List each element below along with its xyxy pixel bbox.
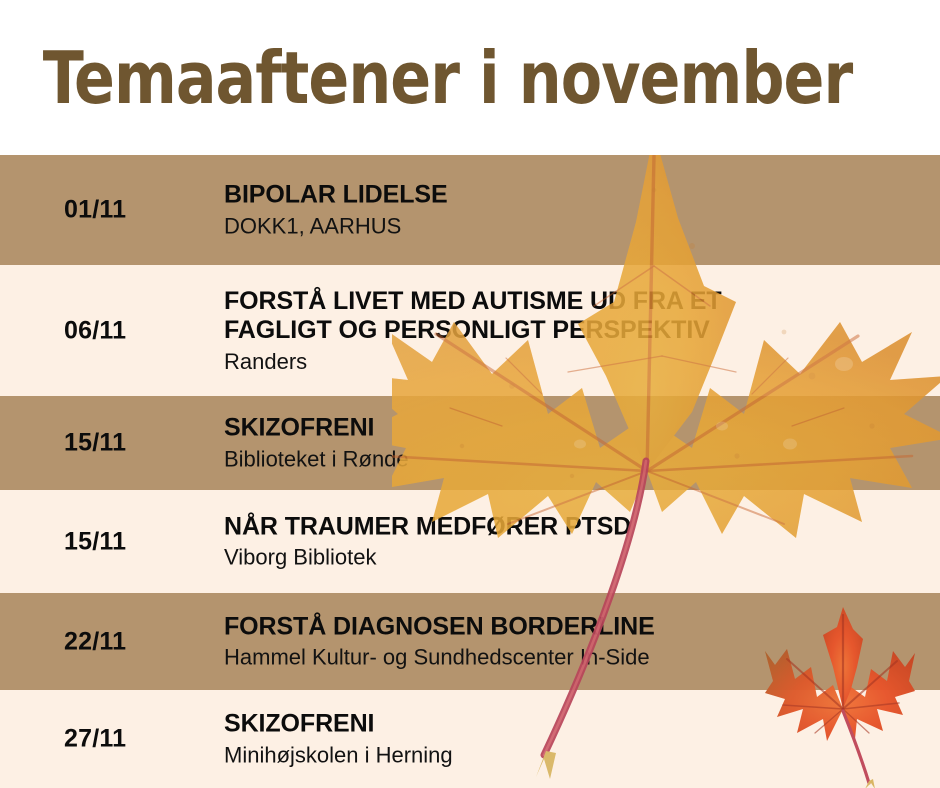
event-text-group: BIPOLAR LIDELSE DOKK1, AARHUS — [224, 181, 924, 240]
event-text-group: SKIZOFRENI Minihøjskolen i Herning — [224, 710, 924, 769]
event-row: 27/11 SKIZOFRENI Minihøjskolen i Herning — [0, 690, 940, 788]
event-venue: Viborg Bibliotek — [224, 544, 924, 572]
event-row: 15/11 NÅR TRAUMER MEDFØRER PTSD Viborg B… — [0, 490, 940, 593]
event-venue: DOKK1, AARHUS — [224, 212, 924, 240]
event-list: 01/11 BIPOLAR LIDELSE DOKK1, AARHUS 06/1… — [0, 155, 940, 788]
event-date: 01/11 — [64, 196, 126, 225]
event-date: 15/11 — [64, 429, 126, 458]
page-title: Temaaftener i november — [0, 42, 852, 114]
event-venue: Biblioteket i Rønde — [224, 445, 924, 473]
event-text-group: SKIZOFRENI Biblioteket i Rønde — [224, 414, 924, 473]
event-title: NÅR TRAUMER MEDFØRER PTSD — [224, 512, 924, 542]
event-date: 06/11 — [64, 316, 126, 345]
event-title: SKIZOFRENI — [224, 710, 924, 740]
event-date: 27/11 — [64, 725, 126, 754]
event-date: 15/11 — [64, 527, 126, 556]
title-bar: Temaaftener i november — [0, 0, 940, 155]
event-row: 22/11 FORSTÅ DIAGNOSEN BORDERLINE Hammel… — [0, 593, 940, 690]
event-text-group: FORSTÅ LIVET MED AUTISME UD FRA ET FAGLI… — [224, 286, 924, 375]
event-row: 01/11 BIPOLAR LIDELSE DOKK1, AARHUS — [0, 155, 940, 265]
event-row: 06/11 FORSTÅ LIVET MED AUTISME UD FRA ET… — [0, 265, 940, 396]
event-text-group: FORSTÅ DIAGNOSEN BORDERLINE Hammel Kultu… — [224, 612, 924, 671]
event-title: SKIZOFRENI — [224, 414, 924, 444]
event-venue: Minihøjskolen i Herning — [224, 741, 924, 769]
event-venue: Randers — [224, 347, 924, 375]
event-venue: Hammel Kultur- og Sundhedscenter In-Side — [224, 644, 924, 672]
poster-canvas: Temaaftener i november 01/11 BIPOLAR LID… — [0, 0, 940, 788]
event-title: FORSTÅ DIAGNOSEN BORDERLINE — [224, 612, 924, 642]
event-row: 15/11 SKIZOFRENI Biblioteket i Rønde — [0, 396, 940, 490]
event-title: FORSTÅ LIVET MED AUTISME UD FRA ET FAGLI… — [224, 286, 924, 345]
event-title: BIPOLAR LIDELSE — [224, 181, 924, 211]
event-text-group: NÅR TRAUMER MEDFØRER PTSD Viborg Bibliot… — [224, 512, 924, 571]
event-date: 22/11 — [64, 627, 126, 656]
